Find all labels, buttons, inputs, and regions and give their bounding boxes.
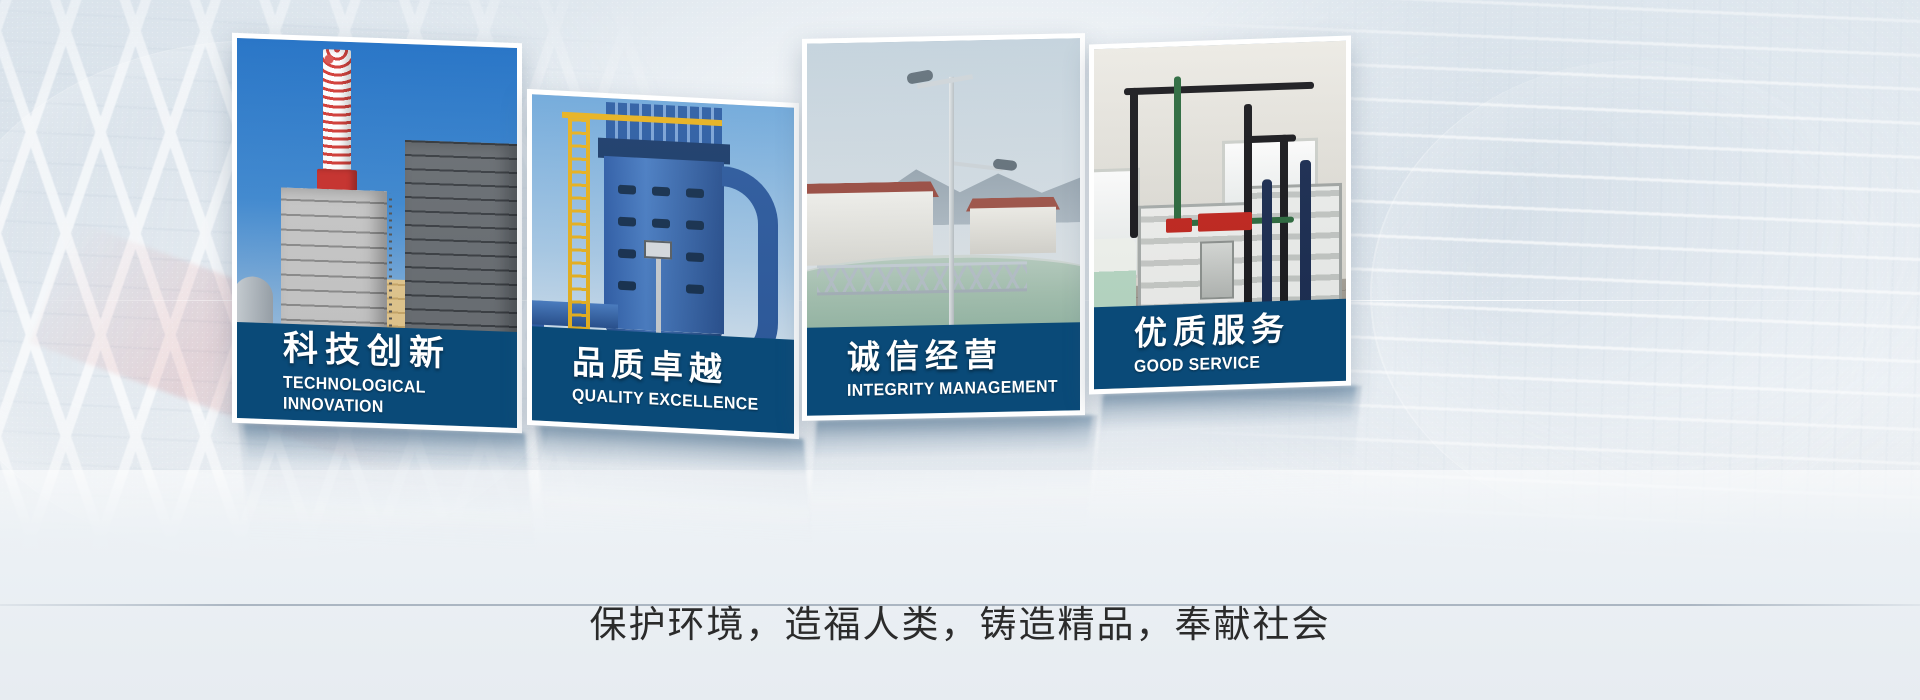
secondary-building [970,207,1056,255]
card-title-en: TECHNOLOGICAL INNOVATION [283,371,501,421]
card-inner: 诚信经营 INTEGRITY MANAGEMENT [807,38,1080,415]
feature-card-good-service[interactable]: 优质服务 GOOD SERVICE [1089,36,1351,395]
red-warning-sign [1198,212,1252,232]
control-panel [1200,241,1234,300]
card-title-cn: 优质服务 [1134,309,1346,353]
pulse-valve-icon [652,186,670,196]
pulse-valve-icon [618,185,636,195]
feature-card-quality-excellence[interactable]: 品质卓越 QUALITY EXCELLENCE [527,89,799,439]
card-title-cn: 诚信经营 [847,336,1080,378]
pulse-valve-icon [686,284,704,294]
banner-tagline: 保护环境，造福人类，铸造精品，奉献社会 [0,600,1920,650]
ladder-icon [389,193,392,333]
card-caption: 优质服务 GOOD SERVICE [1094,299,1346,390]
feature-card-integrity-management[interactable]: 诚信经营 INTEGRITY MANAGEMENT [802,33,1085,421]
card-caption: 品质卓越 QUALITY EXCELLENCE [532,326,794,434]
red-label-sign [1166,218,1192,233]
card-title-en: INTEGRITY MANAGEMENT [847,376,1064,402]
card-title-cn: 科技创新 [283,329,517,377]
blue-pipe-right [1300,160,1311,322]
pulse-valve-icon [618,281,636,291]
banner-stage: 科技创新 TECHNOLOGICAL INNOVATION [0,0,1920,700]
plant-building [807,191,933,266]
card-caption: 科技创新 TECHNOLOGICAL INNOVATION [237,322,517,428]
card-caption: 诚信经营 INTEGRITY MANAGEMENT [807,322,1080,415]
pulse-valve-icon [686,220,704,230]
green-pipe-vertical [1174,76,1181,226]
control-meter [644,240,672,259]
card-inner: 优质服务 GOOD SERVICE [1094,41,1346,390]
pulse-valve-icon [686,188,704,198]
wall-pipe-vertical [1130,88,1138,238]
clarifier-scraper-bridge [817,261,1027,295]
pulse-valve-icon [618,249,636,259]
scrubber-tower-left [281,188,387,338]
card-inner: 品质卓越 QUALITY EXCELLENCE [532,94,794,434]
card-title-en: GOOD SERVICE [1134,350,1331,378]
pulse-valve-icon [652,218,670,228]
card-inner: 科技创新 TECHNOLOGICAL INNOVATION [237,38,517,428]
pulse-valve-icon [686,252,704,262]
pulse-valve-icon [618,217,636,227]
feature-card-list: 科技创新 TECHNOLOGICAL INNOVATION [0,0,1920,700]
riser-pipe [1280,135,1288,323]
feature-card-technological-innovation[interactable]: 科技创新 TECHNOLOGICAL INNOVATION [232,33,522,433]
